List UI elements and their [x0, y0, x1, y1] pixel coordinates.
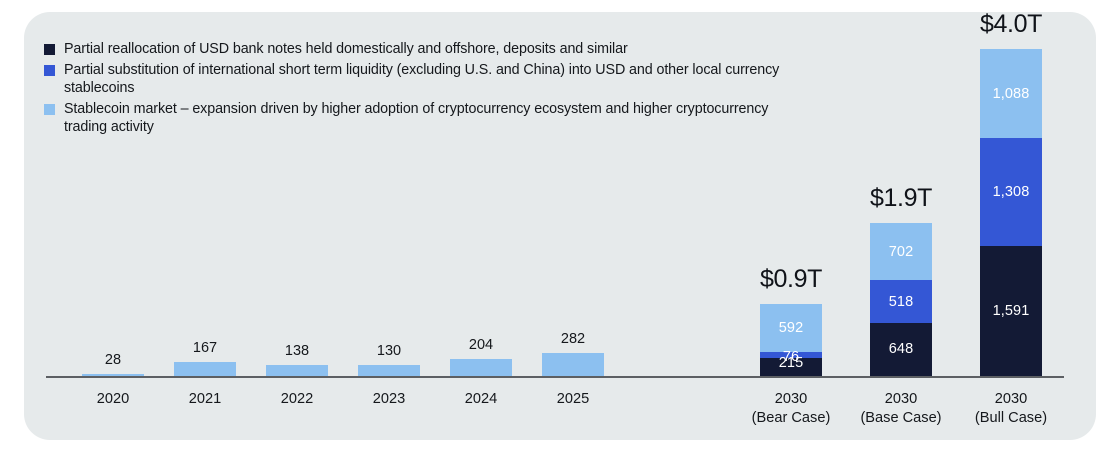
- bar-2030-base-value-stablecoin-market: 702: [889, 244, 914, 260]
- bar-2030-bear-stack: 59276215: [760, 304, 822, 376]
- chart-card: Partial reallocation of USD bank notes h…: [24, 12, 1096, 440]
- bar-2023-segment-stablecoin-market[interactable]: [358, 365, 420, 376]
- bar-2025-segment-stablecoin-market[interactable]: [542, 353, 604, 376]
- bar-2030-bear-segment-stablecoin-market[interactable]: 592: [760, 304, 822, 353]
- bar-2024-segment-stablecoin-market[interactable]: [450, 359, 512, 376]
- bar-2030-base-tick-label-sub: (Base Case): [860, 410, 941, 426]
- bar-2023-stack: [358, 365, 420, 376]
- bar-2022-segment-stablecoin-market[interactable]: [266, 365, 328, 376]
- bar-2030-bull-tick-label: 2030(Bull Case): [936, 390, 1086, 428]
- bar-2030-base-segment-usd-banknote-reallocation[interactable]: 648: [870, 323, 932, 376]
- bar-2020-segment-stablecoin-market[interactable]: [82, 374, 144, 376]
- bar-2030-base-stack: 702518648: [870, 223, 932, 376]
- x-axis-line: [46, 376, 1064, 378]
- bar-2030-bull-segment-intl-liquidity-substitution[interactable]: 1,308: [980, 138, 1042, 245]
- bar-2030-bear-tick-label-sub: (Bear Case): [752, 410, 831, 426]
- bar-2030-bear-value-stablecoin-market: 592: [779, 320, 804, 336]
- plot-area: 2820201672021138202213020232042024282202…: [24, 12, 1096, 440]
- bar-2021-stack: [174, 362, 236, 376]
- bar-2030-base-total-label: $1.9T: [830, 184, 972, 213]
- bar-2030-base-segment-stablecoin-market[interactable]: 702: [870, 223, 932, 281]
- bar-2030-bull-segment-stablecoin-market[interactable]: 1,088: [980, 49, 1042, 138]
- bar-2030-bear-value-usd-banknote-reallocation: 215: [779, 355, 804, 371]
- bar-2025-tick-label: 2025: [498, 390, 648, 409]
- bar-2030-bull-value-intl-liquidity-substitution: 1,308: [993, 184, 1030, 200]
- bar-2030-base-value-usd-banknote-reallocation: 648: [889, 341, 914, 357]
- bar-2030-bear-segment-usd-banknote-reallocation[interactable]: 215: [760, 358, 822, 376]
- bar-2030-base-segment-intl-liquidity-substitution[interactable]: 518: [870, 280, 932, 322]
- bar-2022-stack: [266, 365, 328, 376]
- bar-2030-bull-tick-label-sub: (Bull Case): [975, 410, 1047, 426]
- bar-2030-bull-value-usd-banknote-reallocation: 1,591: [993, 303, 1030, 319]
- bar-2025-value-label: 282: [512, 331, 634, 347]
- bar-2030-bear-total-label: $0.9T: [720, 265, 862, 294]
- bar-2030-bull-value-stablecoin-market: 1,088: [993, 86, 1030, 102]
- bar-2030-bull-stack: 1,0881,3081,591: [980, 49, 1042, 376]
- bar-2030-bull-total-label: $4.0T: [940, 10, 1082, 39]
- bar-2021-segment-stablecoin-market[interactable]: [174, 362, 236, 376]
- bar-2030-bull-segment-usd-banknote-reallocation[interactable]: 1,591: [980, 246, 1042, 376]
- bar-2025-stack: [542, 353, 604, 376]
- bar-2020-stack: [82, 374, 144, 376]
- bar-2030-base-value-intl-liquidity-substitution: 518: [889, 294, 914, 310]
- bar-2024-stack: [450, 359, 512, 376]
